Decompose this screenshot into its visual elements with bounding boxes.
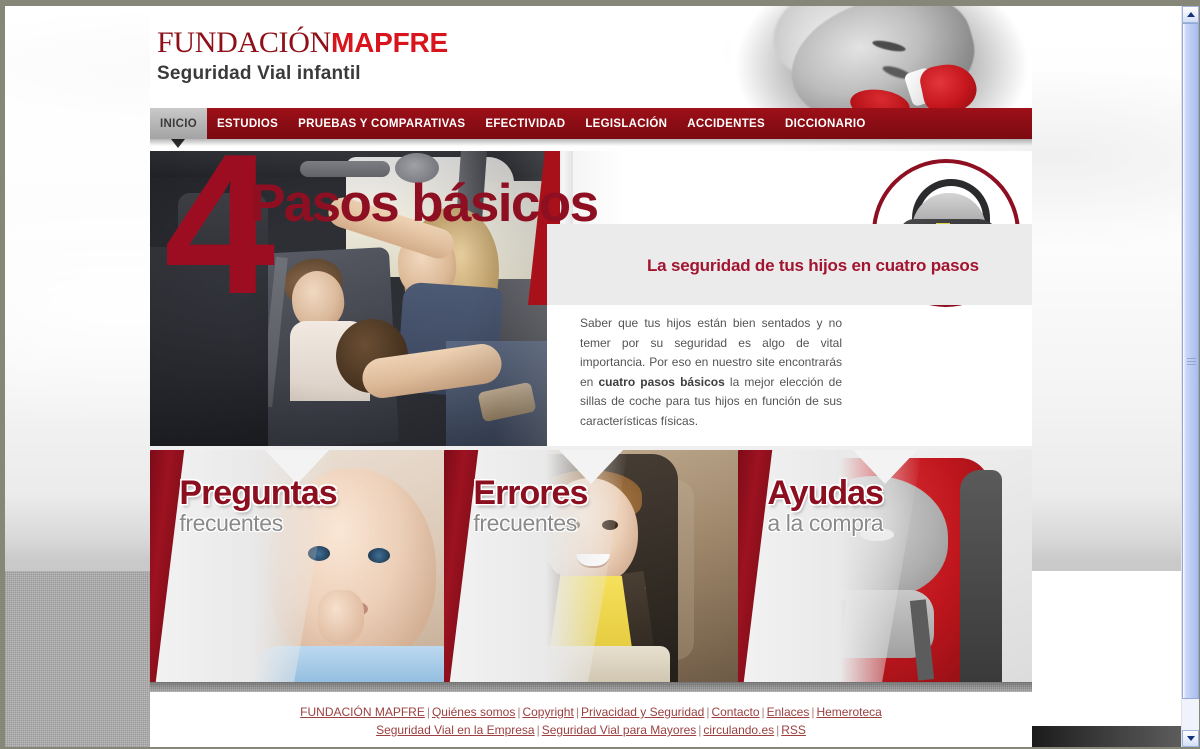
hero-subtitle: La seguridad de tus hijos en cuatro paso… (647, 256, 979, 276)
card-title: Ayudas (767, 476, 883, 510)
footer-separator: | (574, 705, 581, 719)
footer-link-hemeroteca[interactable]: Hemeroteca (816, 705, 881, 719)
footer-row-1: FUNDACIÓN MAPFRE|Quiénes somos|Copyright… (150, 703, 1032, 721)
nav-item-label: INICIO (160, 118, 197, 130)
footer-link-rss[interactable]: RSS (781, 723, 806, 737)
card-subtitle: frecuentes (179, 510, 336, 536)
feature-cards: Preguntas frecuentes (150, 450, 1032, 682)
footer-link-seguridad-vial-para-mayores[interactable]: Seguridad Vial para Mayores (542, 723, 697, 737)
footer-row-2: Seguridad Vial en la Empresa|Seguridad V… (150, 721, 1032, 739)
page-background-right-panel (1032, 571, 1181, 747)
nav-item-label: ACCIDENTES (687, 118, 765, 130)
scrollbar-up-button[interactable] (1182, 6, 1199, 23)
main-navigation: INICIO ESTUDIOS PRUEBAS Y COMPARATIVAS E… (150, 108, 1032, 139)
footer-link-fundacion-mapfre[interactable]: FUNDACIÓN MAPFRE (300, 705, 425, 719)
footer-separator: | (760, 705, 767, 719)
nav-item-pruebas-y-comparativas[interactable]: PRUEBAS Y COMPARATIVAS (288, 108, 475, 139)
browser-viewport: FUNDACIÓNMAPFRE Seguridad Vial infantil … (5, 6, 1181, 747)
logo-tagline: Seguridad Vial infantil (157, 63, 448, 85)
footer-separator: | (535, 723, 542, 737)
card-text: Preguntas frecuentes (179, 476, 336, 536)
nav-item-estudios[interactable]: ESTUDIOS (207, 108, 288, 139)
card-text: Ayudas a la compra (767, 476, 883, 536)
site-footer: FUNDACIÓN MAPFRE|Quiénes somos|Copyright… (150, 692, 1032, 747)
card-ayudas-a-la-compra[interactable]: Ayudas a la compra (738, 450, 1032, 682)
nav-item-inicio[interactable]: INICIO (150, 108, 207, 139)
footer-link-copyright[interactable]: Copyright (522, 705, 573, 719)
card-text: Errores frecuentes (473, 476, 587, 536)
chevron-up-icon (1187, 12, 1195, 17)
card-subtitle: a la compra (767, 510, 883, 536)
scrollbar-down-button[interactable] (1182, 730, 1199, 747)
footer-link-enlaces[interactable]: Enlaces (767, 705, 810, 719)
nav-item-accidentes[interactable]: ACCIDENTES (677, 108, 775, 139)
footer-separator: | (425, 705, 432, 719)
page-background-bottom-strip (1032, 726, 1181, 747)
hero-banner: 4 Pasos básicos La seguridad de tus hijo… (150, 151, 1032, 446)
card-subtitle: frecuentes (473, 510, 587, 536)
nav-item-label: ESTUDIOS (217, 118, 278, 130)
site-header: FUNDACIÓNMAPFRE Seguridad Vial infantil (150, 6, 1032, 108)
nav-item-legislacion[interactable]: LEGISLACIÓN (575, 108, 677, 139)
card-title: Errores (473, 476, 587, 510)
card-title: Preguntas (179, 476, 336, 510)
hero-title: Pasos básicos (250, 173, 597, 234)
footer-link-circulando-es[interactable]: circulando.es (703, 723, 774, 737)
header-baby-photo (732, 6, 1032, 108)
nav-item-efectividad[interactable]: EFECTIVIDAD (475, 108, 575, 139)
nav-item-diccionario[interactable]: DICCIONARIO (775, 108, 876, 139)
card-errores-frecuentes[interactable]: Errores frecuentes (444, 450, 738, 682)
site-content: FUNDACIÓNMAPFRE Seguridad Vial infantil … (150, 6, 1032, 747)
footer-link-contacto[interactable]: Contacto (711, 705, 759, 719)
hero-description-bold: cuatro pasos básicos (598, 375, 724, 389)
hero-description: Saber que tus hijos están bien sentados … (580, 314, 842, 431)
logo-wordmark: FUNDACIÓNMAPFRE (157, 28, 448, 58)
nav-item-label: EFECTIVIDAD (485, 118, 565, 130)
nav-item-label: PRUEBAS Y COMPARATIVAS (298, 118, 465, 130)
footer-link-privacidad-y-seguridad[interactable]: Privacidad y Seguridad (581, 705, 704, 719)
logo-mapfre-text: MAPFRE (331, 27, 448, 58)
nav-item-label: DICCIONARIO (785, 118, 866, 130)
logo-fundacion-text: FUNDACIÓN (157, 26, 331, 59)
footer-link-seguridad-vial-en-la-empresa[interactable]: Seguridad Vial en la Empresa (376, 723, 535, 737)
site-logo[interactable]: FUNDACIÓNMAPFRE Seguridad Vial infantil (157, 28, 448, 85)
card-preguntas-frecuentes[interactable]: Preguntas frecuentes (150, 450, 444, 682)
chevron-down-icon (1187, 736, 1195, 741)
footer-link-quienes-somos[interactable]: Quiénes somos (432, 705, 515, 719)
scrollbar-grip-icon (1187, 357, 1196, 365)
scrollbar-track[interactable] (1182, 23, 1199, 730)
cards-shadow (150, 682, 1032, 692)
vertical-scrollbar[interactable] (1181, 6, 1198, 747)
browser-window: FUNDACIÓNMAPFRE Seguridad Vial infantil … (0, 0, 1200, 749)
hero-big-number: 4 (164, 151, 263, 325)
scrollbar-thumb[interactable] (1182, 23, 1199, 699)
nav-item-label: LEGISLACIÓN (585, 118, 667, 130)
